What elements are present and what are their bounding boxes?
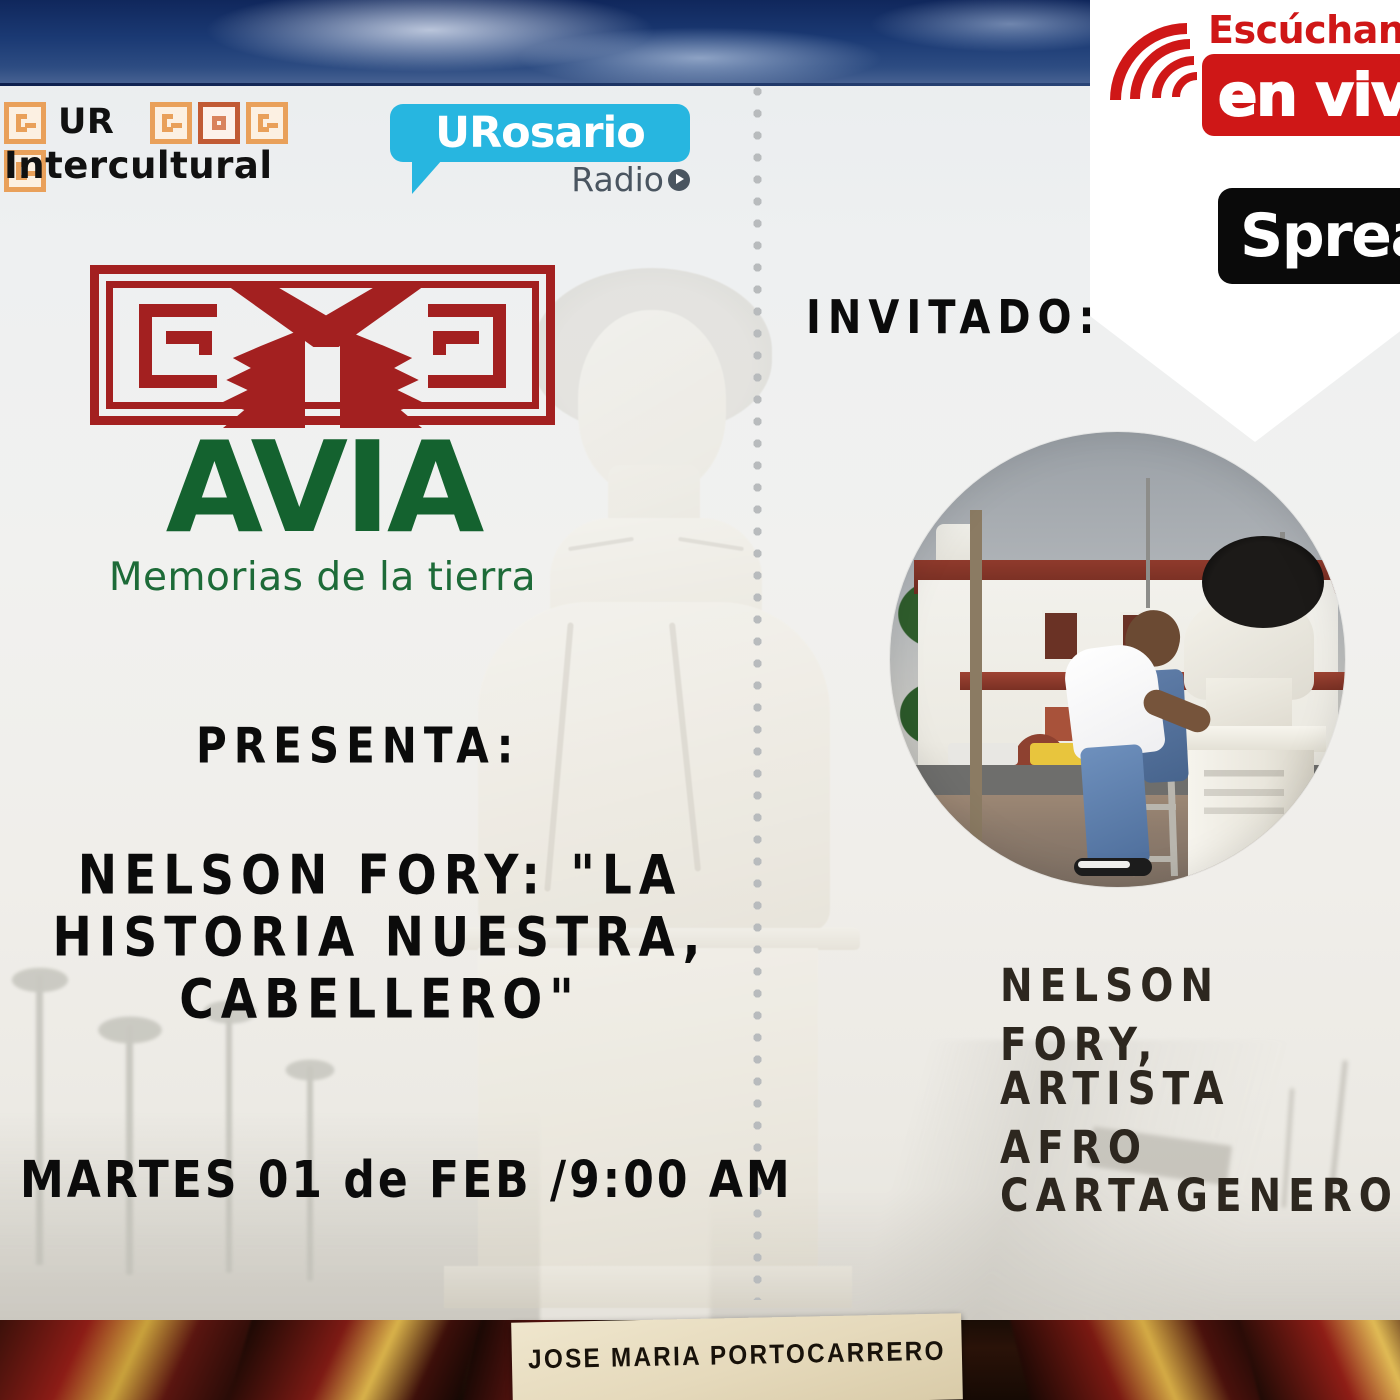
guest-caption-line-1: NELSON FORY, xyxy=(1000,957,1360,1076)
urosario-radio-logo: URosario Radio xyxy=(390,104,700,204)
radio-sublabel: Radio xyxy=(571,160,664,199)
en-vivo-badge[interactable]: en vivo xyxy=(1202,54,1400,136)
presents-label: PRESENTA: xyxy=(196,714,520,778)
greca-pattern-icon xyxy=(150,102,192,144)
statue-plaque-text: JOSE MARIA PORTOCARRERO xyxy=(528,1336,946,1376)
listen-label: Escúchanos xyxy=(1208,8,1400,52)
ur-label: UR xyxy=(58,102,114,142)
guest-label: INVITADO: xyxy=(806,288,1102,349)
intercultural-label: Intercultural xyxy=(4,144,273,187)
night-sky-clouds-icon xyxy=(0,0,1120,86)
poster-canvas: UR Intercultural URosario Radio Escúchan… xyxy=(0,0,1400,1400)
event-datetime: MARTES 01 de FEB /9:00 AM xyxy=(20,1147,793,1214)
urosario-wordmark: URosario xyxy=(390,104,690,162)
greca-pattern-icon xyxy=(4,102,46,144)
guest-caption-line-2: ARTISTA AFRO xyxy=(1000,1060,1360,1179)
avia-wordmark: AVIA xyxy=(98,425,548,551)
vertical-dotted-divider xyxy=(752,86,763,1300)
play-circle-icon xyxy=(668,169,690,191)
greca-pattern-icon xyxy=(198,102,240,144)
ur-intercultural-logo: UR Intercultural xyxy=(4,100,272,196)
avia-logo: AVIA Memorias de la tierra xyxy=(90,265,560,610)
live-badge[interactable]: Escúchanos en vivo Spreaker xyxy=(1090,0,1400,442)
show-title-line-3: CABELLERO" xyxy=(50,964,710,1036)
guest-photo-icon xyxy=(890,432,1345,887)
indigenous-greca-bird-icon xyxy=(90,265,555,425)
spreaker-label: Spreaker xyxy=(1240,201,1400,271)
radio-sublabel-group: Radio xyxy=(571,160,690,199)
guest-caption-line-3: CARTAGENERO xyxy=(1000,1167,1360,1227)
en-vivo-label: en vivo xyxy=(1218,61,1400,129)
spreaker-button[interactable]: Spreaker xyxy=(1218,188,1400,284)
avia-tagline: Memorias de la tierra xyxy=(90,555,555,600)
statue-plaque: JOSE MARIA PORTOCARRERO xyxy=(511,1313,963,1400)
show-title: NELSON FORY: "LA HISTORIA NUESTRA, CABEL… xyxy=(50,845,710,1031)
greca-pattern-icon xyxy=(246,102,288,144)
guest-caption: NELSON FORY, ARTISTA AFRO CARTAGENERO xyxy=(1000,965,1360,1222)
